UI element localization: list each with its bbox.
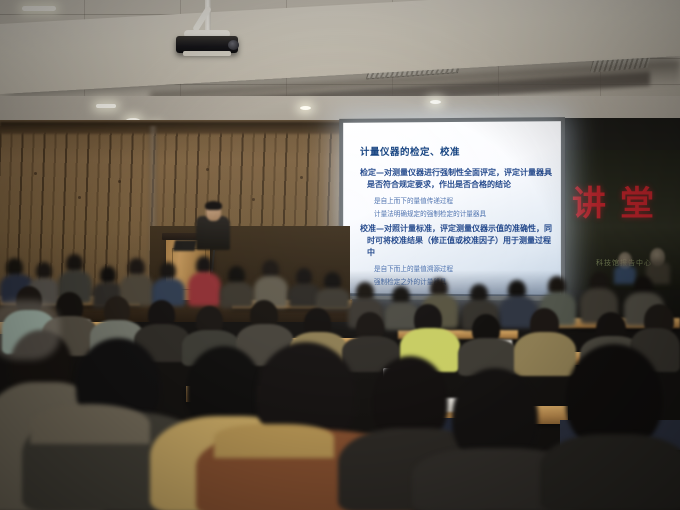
sweater-collar: [214, 424, 334, 458]
banner-portrait-body: [614, 266, 636, 284]
audience-body-olive: [514, 332, 576, 376]
ceiling-downlight: [430, 100, 441, 104]
banner-title-text: 讲堂: [572, 176, 678, 225]
lecture-hall-photo: 讲堂 科技馆报告中心 计量仪器的检定、校准 检定—对测量仪器进行强制性全面评定，…: [0, 0, 680, 510]
slide-bullet: 检定—对测量仪器进行强制性全面评定，评定计量器具是否符合规定要求，作出是否合格的…: [360, 167, 552, 192]
audience-body: [316, 288, 350, 310]
ceiling-light: [22, 6, 56, 11]
projector-base: [183, 51, 231, 56]
slide-subbullet: 是自上而下的量值传递过程: [374, 197, 552, 207]
projector-lens-icon: [228, 40, 239, 50]
slide-subbullet: 计量法明确规定的强制检定的计量器具: [374, 210, 552, 220]
slide-title: 计量仪器的检定、校准: [360, 144, 552, 158]
audience-body-plaid: [188, 272, 221, 306]
speaker-hair: [205, 201, 222, 210]
ceiling-downlight: [300, 106, 311, 110]
speaker-torso: [196, 216, 230, 250]
slide-bullet: 校准—对照计量标准，评定测量仪器示值的准确性，同时可将校准结果（修正值或校准因子…: [360, 223, 552, 260]
podium-laptop-icon: [173, 240, 197, 251]
ceiling-light: [96, 104, 116, 108]
audience-body: [540, 434, 680, 510]
presentation-slide: 计量仪器的检定、校准 检定—对测量仪器进行强制性全面评定，评定计量器具是否符合规…: [352, 130, 552, 280]
audience-body: [220, 282, 254, 308]
screen-bottom-shadow: [342, 270, 560, 296]
curtain-rail: [0, 122, 348, 134]
audience-blur-foreground: [0, 300, 60, 360]
coat-hood: [30, 404, 150, 444]
